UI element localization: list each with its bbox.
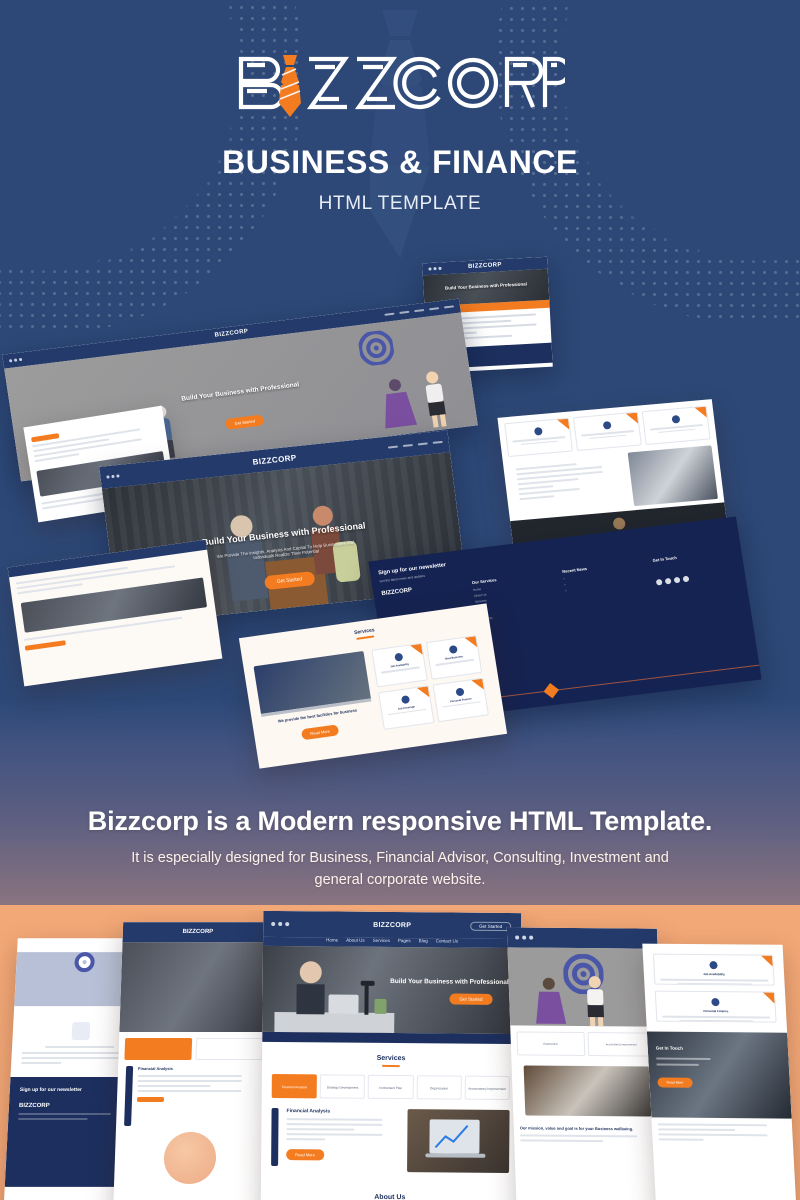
nav-link-home[interactable]: Home	[326, 937, 338, 942]
page-center-main[interactable]: BIZZCORP Get Started Home About Us Servi…	[261, 911, 522, 1200]
page-hero: Build Your Business with Professional Ge…	[262, 946, 521, 1034]
people-illustration-icon	[524, 974, 636, 1027]
section-dash-icon	[382, 1065, 400, 1067]
mockup-collage: BIZZCORP Build Your Business with Profes…	[0, 248, 800, 768]
service-tabs[interactable]: Organization Accountancy Improvement	[510, 1025, 661, 1062]
circle-icon	[74, 952, 95, 972]
bottom-mockup-fan: Sign up for our newsletter BIZZCORP BIZZ…	[0, 910, 800, 1200]
building-icon	[455, 687, 464, 696]
section-title: Services	[262, 1054, 520, 1063]
mockup-cta-button[interactable]: Get Started	[225, 414, 265, 430]
footer-diamond-accent-icon	[544, 683, 559, 698]
page-chip-row	[118, 1032, 269, 1066]
pitch-block: Bizzcorp is a Modern responsive HTML Tem…	[0, 806, 800, 892]
page-hero-photo	[119, 942, 272, 1032]
mockup-service-card[interactable]: Best Business	[426, 635, 483, 680]
page-cta-button[interactable]: Get Started	[449, 994, 492, 1005]
twitter-icon	[665, 578, 672, 585]
service-icon	[602, 421, 611, 430]
page-photo	[524, 1065, 652, 1116]
bizzcorp-logo-icon	[235, 49, 565, 123]
service-tab[interactable]: Organization	[416, 1075, 461, 1099]
chip[interactable]	[195, 1038, 263, 1060]
mockup-nav-links[interactable]	[388, 441, 443, 449]
feature-text: Financial Analysis Read More	[286, 1108, 399, 1172]
mockup-card-grid: Job Availability Best Business Job Cover…	[371, 634, 494, 729]
nav-link-contact[interactable]: Contact Us	[436, 938, 458, 943]
service-tabs[interactable]: Financial Analysis Strategy Development …	[262, 1074, 520, 1100]
page-subtitle: HTML TEMPLATE	[0, 193, 800, 215]
facility-cta-button[interactable]: Read More	[301, 724, 340, 740]
card-title: Job Availability	[655, 972, 773, 977]
page-title: BUSINESS & FINANCE	[0, 144, 800, 181]
service-icon	[671, 415, 680, 424]
nav-link-about[interactable]: About Us	[346, 938, 365, 943]
section-title: About Us	[261, 1193, 519, 1200]
laptop-chart-photo-icon	[407, 1109, 510, 1168]
page-left[interactable]: BIZZCORP Financial Analysis	[113, 922, 274, 1200]
avatar	[163, 1132, 217, 1184]
pitch-headline: Bizzcorp is a Modern responsive HTML Tem…	[0, 806, 800, 837]
chart-icon	[400, 695, 409, 704]
page-body: Financial Analysis	[136, 1066, 260, 1126]
gear-icon	[709, 961, 717, 969]
page-far-right[interactable]: Job Availability Personal Finance Get In…	[642, 944, 797, 1200]
mockup-service-card[interactable]	[573, 412, 642, 451]
footer-col-contact: Get In Touch	[652, 548, 739, 601]
mockup-service-card[interactable]: Job Availability	[371, 643, 428, 688]
necktie-icon	[279, 55, 301, 117]
feature-cta-button[interactable]: Read More	[286, 1149, 324, 1160]
card-title: Personal Finance	[657, 1009, 775, 1014]
window-dots-icon	[515, 935, 533, 939]
window-dots-icon	[271, 922, 289, 926]
mockup-service-card[interactable]	[504, 418, 573, 457]
footer-col-news: Recent News • • •	[562, 559, 649, 612]
nav-cta-button[interactable]: Get Started	[470, 921, 511, 930]
service-tab[interactable]: Accountancy Improvement	[587, 1032, 655, 1057]
about-heading: Our mission, value and goal is for your …	[520, 1125, 658, 1131]
service-tab[interactable]: Financial Analysis	[272, 1074, 317, 1098]
vertical-tab[interactable]	[271, 1108, 279, 1166]
pitch-description: It is especially designed for Business, …	[120, 848, 680, 892]
contact-heading: Get In Touch	[656, 1046, 683, 1051]
mockup-service-card[interactable]: Personal Finance	[432, 677, 489, 722]
section-dash-icon	[356, 635, 374, 639]
window-dots-icon	[106, 475, 119, 479]
mockup-brand: BIZZCORP	[468, 262, 502, 270]
window-dots-icon	[428, 267, 441, 271]
people-illustration-right-icon	[373, 365, 465, 435]
page-photo: Get In Touch Read More	[647, 1032, 792, 1119]
mockup-brand: BIZZCORP	[214, 329, 249, 339]
mockup-service-card[interactable]	[642, 406, 711, 445]
nav-link-pages[interactable]: Pages	[398, 938, 411, 943]
service-tab[interactable]: Organization	[516, 1031, 584, 1056]
feature-photo	[407, 1109, 510, 1173]
active-chip[interactable]	[124, 1038, 192, 1060]
feature-title: Financial Analysis	[287, 1108, 400, 1115]
page-header: BUSINESS & FINANCE HTML TEMPLATE	[0, 0, 800, 215]
vertical-tab[interactable]	[124, 1066, 133, 1126]
linkedin-icon	[674, 577, 681, 584]
network-icon	[394, 653, 403, 662]
building-icon	[711, 998, 719, 1006]
mockup-body	[509, 453, 628, 516]
mockup-facilities[interactable]	[8, 540, 223, 687]
window-dots-icon	[9, 358, 22, 363]
service-icon	[533, 427, 542, 436]
mockup-device-preview: We provide the best facilities for busin…	[253, 651, 376, 746]
handshake-icon	[448, 645, 457, 654]
nav-link-services[interactable]: Services	[373, 938, 390, 943]
mockup-hero-heading: Build Your Business with Professional	[445, 282, 527, 291]
mockup-brand: BIZZCORP	[252, 453, 297, 467]
service-tab[interactable]: Accountancy Improvement	[464, 1076, 509, 1100]
page-hero	[507, 947, 660, 1026]
mockup-service-card[interactable]: Job Availability	[653, 954, 775, 986]
contact-cta-button[interactable]: Read More	[657, 1078, 692, 1088]
nav-link-blog[interactable]: Blog	[419, 938, 428, 943]
mockup-photo	[628, 445, 718, 506]
page-hero-heading: Build Your Business with Professional	[390, 978, 509, 986]
businesswoman-desk-photo-icon	[274, 954, 395, 1033]
service-tab[interactable]: Strategy Development	[320, 1074, 365, 1098]
avatar	[612, 517, 625, 530]
service-tab[interactable]: Investment Plan	[368, 1075, 413, 1099]
brand-logo	[0, 48, 800, 124]
page-navbar	[507, 927, 658, 948]
page-body	[651, 1118, 793, 1151]
feature-icon	[71, 1022, 90, 1040]
facebook-icon	[656, 579, 663, 586]
mockup-service-card[interactable]: Job Coverage	[378, 685, 435, 730]
feature-split: Financial Analysis Read More	[261, 1098, 520, 1183]
bullseye-target-icon	[357, 329, 396, 367]
mockup-hero-heading: Build Your Business with Professional	[181, 382, 300, 403]
mockup-facilities-cards[interactable]: Services We provide the best facilities …	[239, 603, 507, 768]
feature-title: Financial Analysis	[138, 1066, 260, 1071]
page-navbar: BIZZCORP Get Started	[263, 911, 521, 939]
mockup-brand: BIZZCORP	[182, 929, 213, 935]
instagram-icon	[683, 576, 690, 583]
mockup-service-card[interactable]: Personal Finance	[655, 991, 777, 1023]
mockup-brand: BIZZCORP	[373, 921, 411, 928]
page-body: Our mission, value and goal is for your …	[513, 1119, 664, 1151]
page-navbar: BIZZCORP	[122, 922, 273, 942]
page-card-list: Job Availability Personal Finance	[642, 944, 787, 1033]
